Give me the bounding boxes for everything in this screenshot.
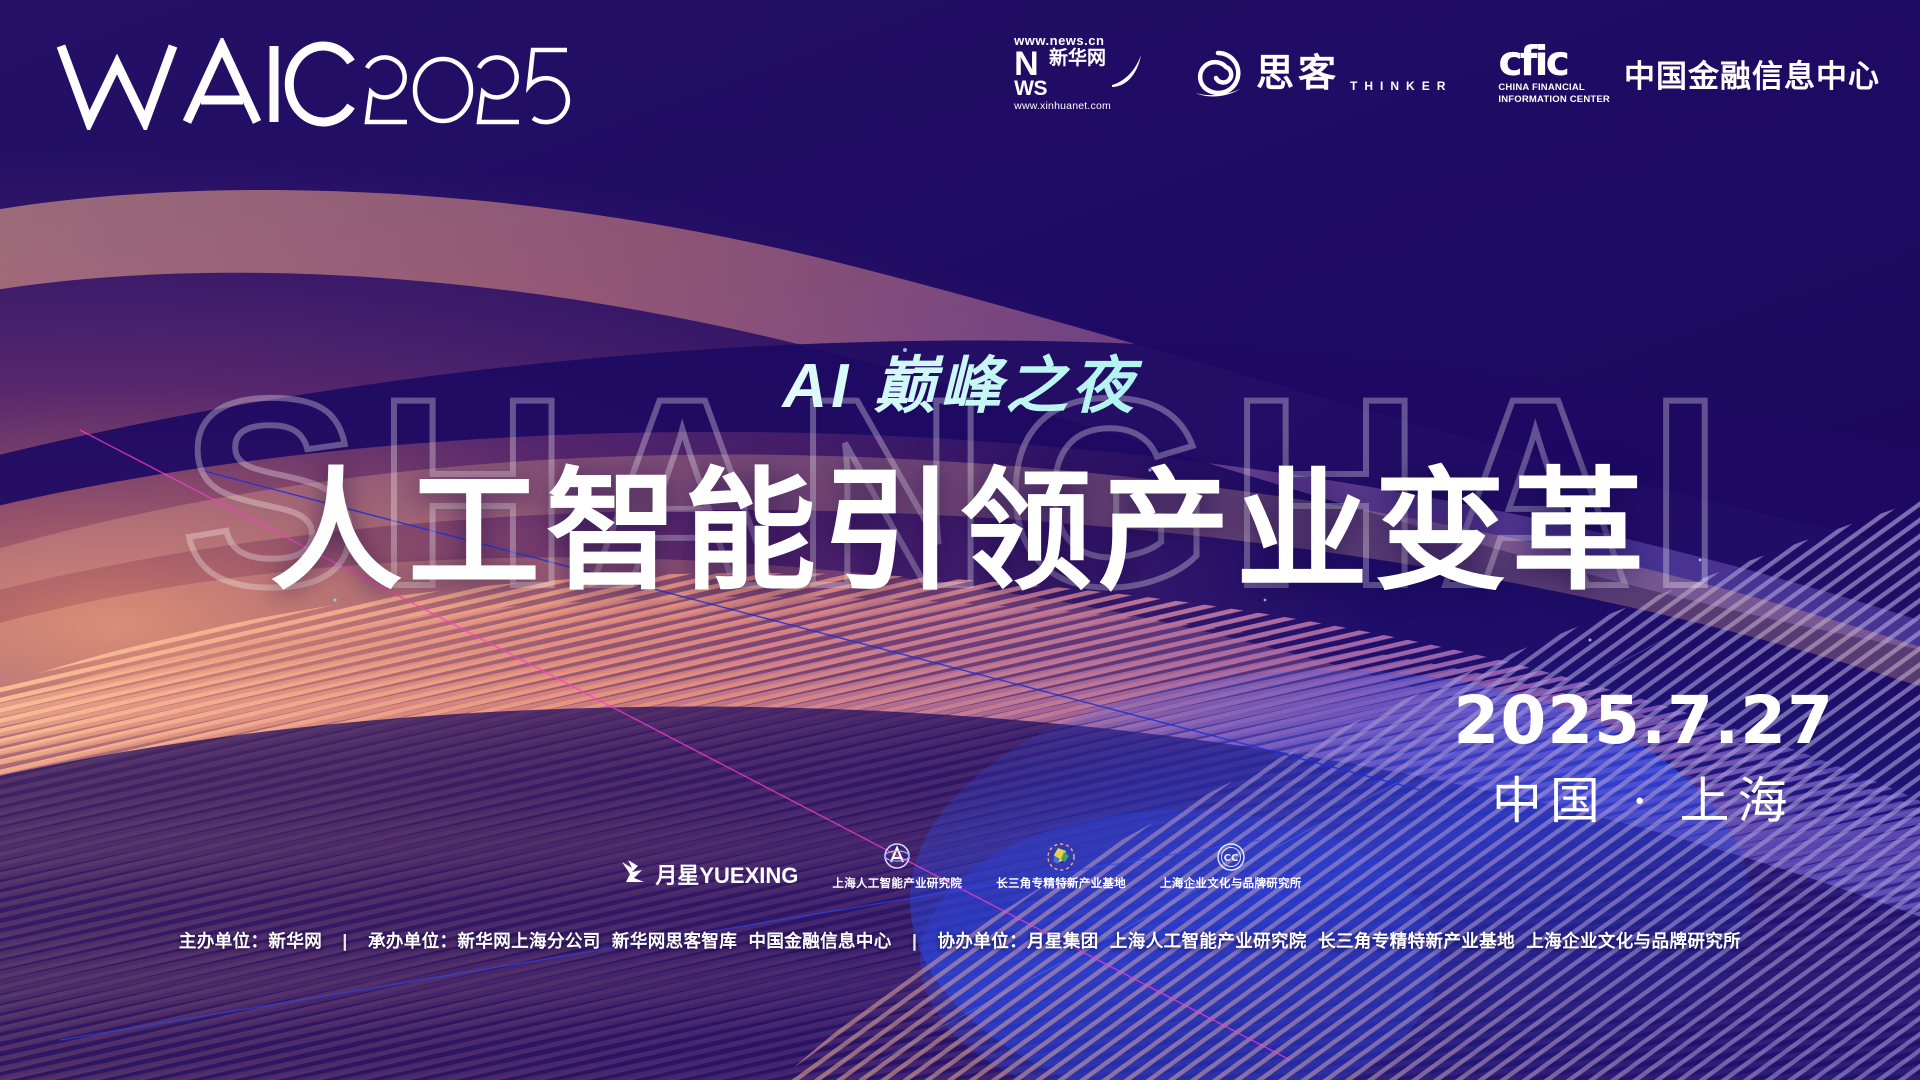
brand-institute-icon: CC [1216, 842, 1246, 872]
yangtze-delta-icon [1046, 842, 1076, 872]
partner-thinker: 思客 THINKER [1190, 45, 1452, 101]
partner-cfic: cfic CHINA FINANCIAL INFORMATION CENTER … [1498, 41, 1880, 106]
svg-text:CC: CC [1223, 853, 1238, 864]
partner-logo-bar: www.news.cn N WS 新华网 www.xinhuanet.com [1014, 34, 1880, 112]
event-date: 2025.7.27 [1453, 688, 1834, 754]
event-eyebrow: AI 巅峰之夜 [0, 335, 1920, 425]
thinker-cn-name: 思客 [1256, 54, 1340, 92]
sponsor-yangtze-delta: 长三角专精特新产业基地 [996, 842, 1126, 891]
event-datebox: 2025.7.27 中国 · 上海 [1453, 688, 1834, 826]
credit-organizer-2: 新华网思客智库 [609, 931, 740, 951]
thinker-en-name: THINKER [1350, 79, 1452, 93]
sponsor-name: 上海企业文化与品牌研究所 [1160, 875, 1302, 891]
xinhua-ws-mark: WS [1014, 80, 1047, 99]
yuexing-star-icon [618, 857, 648, 887]
cfic-cn-name: 中国金融信息中心 [1624, 51, 1880, 96]
event-place: 中国 · 上海 [1453, 776, 1834, 826]
credit-organizer-3: 中国金融信息中心 [746, 931, 895, 951]
credit-coorganizer-4: 上海企业文化与品牌研究所 [1523, 931, 1744, 951]
credit-coorganizer-3: 长三角专精特新产业基地 [1315, 931, 1518, 951]
cfic-sub-line1: CHINA FINANCIAL [1498, 83, 1610, 94]
xinhua-cn-name: 新华网 [1049, 49, 1106, 99]
ai-institute-icon [882, 842, 912, 872]
credit-separator-2: | [900, 931, 929, 951]
credits-line: 主办单位：新华网 | 承办单位：新华网上海分公司 新华网思客智库 中国金融信息中… [0, 928, 1920, 953]
xinhua-swoosh-icon [1110, 49, 1144, 89]
sponsor-brand-institute: CC 上海企业文化与品牌研究所 [1160, 842, 1302, 891]
sponsor-logo-row: 月星YUEXING 上海人工智能产业研究院 长三角 [0, 842, 1920, 891]
waic-logo: WAIC 2025 [55, 38, 575, 130]
credit-organizer-1: 承办单位：新华网上海分公司 [365, 931, 604, 951]
thinker-spiral-icon [1190, 45, 1246, 101]
xinhua-n-mark: N [1014, 49, 1047, 80]
xinhua-url-bottom: www.xinhuanet.com [1014, 101, 1111, 112]
sponsor-name: 长三角专精特新产业基地 [996, 875, 1126, 891]
sponsor-name: 上海人工智能产业研究院 [832, 875, 962, 891]
partner-xinhuanet: www.news.cn N WS 新华网 www.xinhuanet.com [1014, 34, 1144, 112]
poster-canvas: WAIC 2025 www.news.cn N WS 新华网 www.xinhu… [0, 0, 1920, 1080]
sponsor-name: 月星YUEXING [655, 858, 798, 890]
page-title: 人工智能引领产业变革 [0, 425, 1920, 616]
credit-separator-1: | [330, 931, 359, 951]
credit-coorganizer-2: 上海人工智能产业研究院 [1107, 931, 1310, 951]
credit-coorganizer-1: 协办单位：月星集团 [935, 931, 1102, 951]
credit-host: 主办单位：新华网 [176, 931, 325, 951]
cfic-wordmark: cfic [1498, 41, 1610, 82]
sponsor-ai-institute: 上海人工智能产业研究院 [832, 842, 962, 891]
sponsor-yuexing: 月星YUEXING [618, 857, 798, 890]
cfic-sub-line2: INFORMATION CENTER [1498, 95, 1610, 106]
